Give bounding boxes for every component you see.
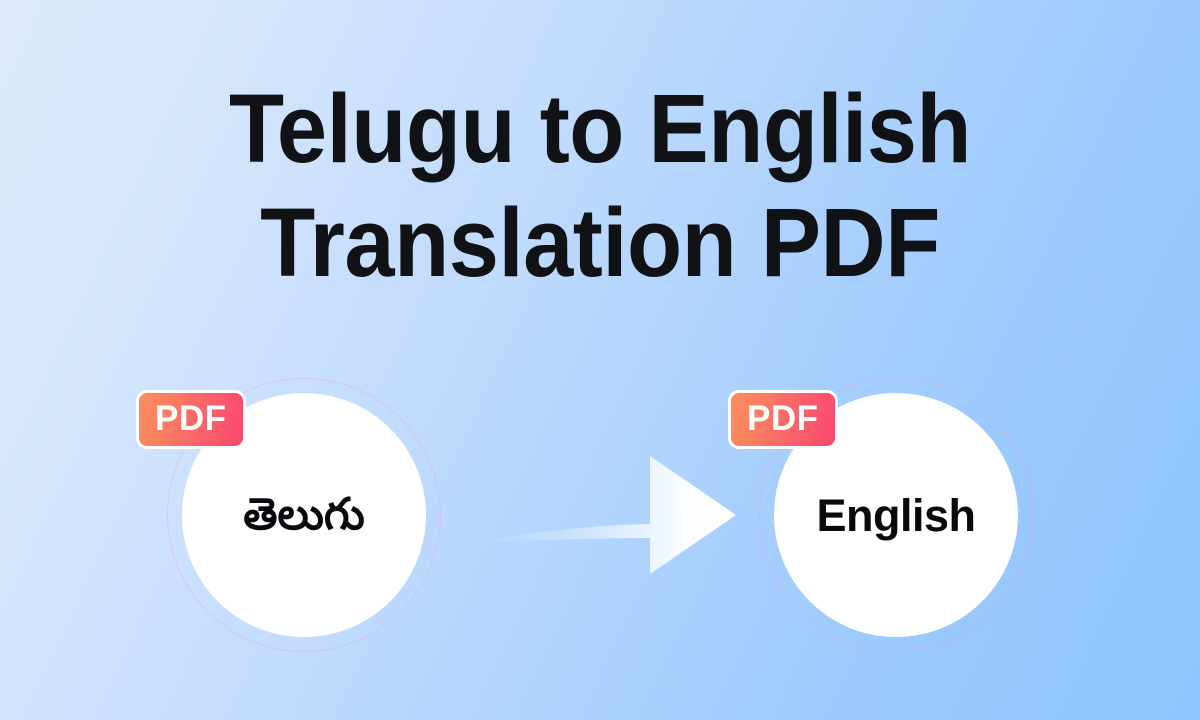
source-pdf-badge: PDF: [136, 390, 246, 449]
target-language-label: English: [816, 493, 975, 538]
promo-banner: Telugu to English Translation PDF తెలుగు…: [0, 0, 1200, 720]
page-title-line-1: Telugu to English: [42, 72, 1158, 186]
target-language-disc: English PDF: [760, 379, 1032, 651]
translation-arrow: [458, 448, 738, 582]
page-title: Telugu to English Translation PDF: [0, 72, 1200, 300]
arrow-icon: [458, 448, 738, 582]
source-language-label: తెలుగు: [243, 493, 365, 537]
page-title-line-2: Translation PDF: [42, 186, 1158, 300]
target-pdf-badge: PDF: [728, 390, 838, 449]
source-language-disc: తెలుగు PDF: [168, 379, 440, 651]
